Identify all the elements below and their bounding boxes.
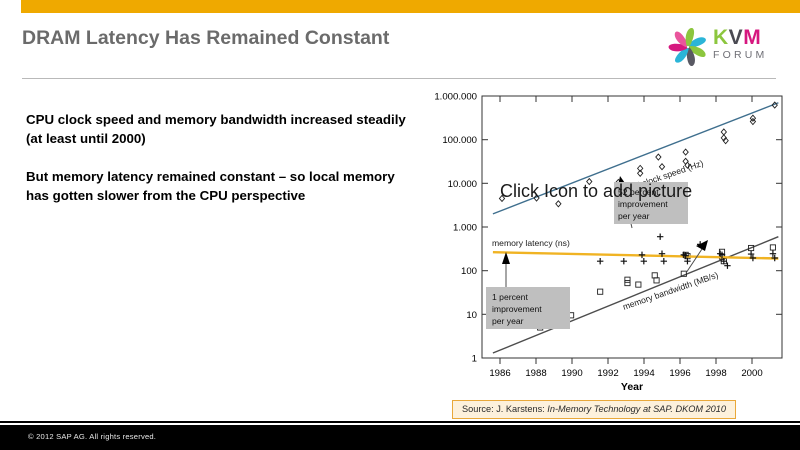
callout-line-2: improvement [492, 304, 542, 314]
logo-kvm-text: KVM [713, 28, 797, 48]
logo-wordmark: KVM FORUM [713, 28, 797, 62]
latency-chart: 1 10 100 1.000 10.000 100.000 1.000.000 [428, 88, 800, 391]
x-tick-label: 1996 [669, 368, 690, 379]
y-tick-label: 1.000.000 [434, 92, 477, 103]
x-tick-label: 1986 [489, 368, 510, 379]
top-accent-bar [21, 0, 800, 13]
y-tick-label: 10.000 [448, 179, 477, 190]
logo-letter-v: V [729, 26, 744, 49]
chart-container: 1 10 100 1.000 10.000 100.000 1.000.000 [428, 88, 800, 391]
callout-line-3: per year [492, 316, 524, 326]
x-tick-label: 1990 [561, 368, 582, 379]
slide: KVM FORUM DRAM Latency Has Remained Cons… [0, 0, 800, 450]
x-tick-label: 1992 [597, 368, 618, 379]
copyright-text: © 2012 SAP AG. All rights reserved. [28, 432, 156, 441]
y-tick-label: 1.000 [453, 223, 477, 234]
source-title: In-Memory Technology at SAP. DKOM 2010 [547, 404, 726, 414]
kvm-forum-logo: KVM FORUM [668, 27, 796, 67]
callout-line-3: per year [618, 211, 650, 221]
x-tick-label: 2000 [741, 368, 762, 379]
kvm-pinwheel-icon [668, 28, 708, 66]
title-divider [22, 78, 776, 79]
series-label-memory-latency: memory latency (ns) [492, 238, 570, 248]
y-tick-label: 100 [461, 266, 477, 277]
page-title: DRAM Latency Has Remained Constant [22, 27, 389, 50]
x-tick-label: 1988 [525, 368, 546, 379]
x-tick-label: 1994 [633, 368, 655, 379]
logo-letter-k: K [713, 26, 729, 49]
source-prefix: Source: J. Karstens: [462, 404, 547, 414]
source-citation: Source: J. Karstens: In-Memory Technolog… [452, 400, 736, 419]
callout-line-1: 1 percent [492, 292, 528, 302]
bullet-1: CPU clock speed and memory bandwidth inc… [26, 110, 421, 148]
body-content: CPU clock speed and memory bandwidth inc… [26, 110, 421, 205]
logo-forum-text: FORUM [713, 49, 797, 62]
x-tick-label: 1998 [705, 368, 726, 379]
picture-placeholder-text[interactable]: Click Icon to add picture [500, 181, 692, 202]
y-tick-label: 10 [466, 310, 477, 321]
bullet-2: But memory latency remained constant – s… [26, 167, 421, 205]
logo-letter-m: M [743, 26, 761, 49]
y-tick-label: 100.000 [442, 135, 477, 146]
y-tick-label: 1 [472, 354, 477, 365]
footer-divider [0, 421, 800, 423]
x-axis-title: Year [621, 381, 643, 391]
